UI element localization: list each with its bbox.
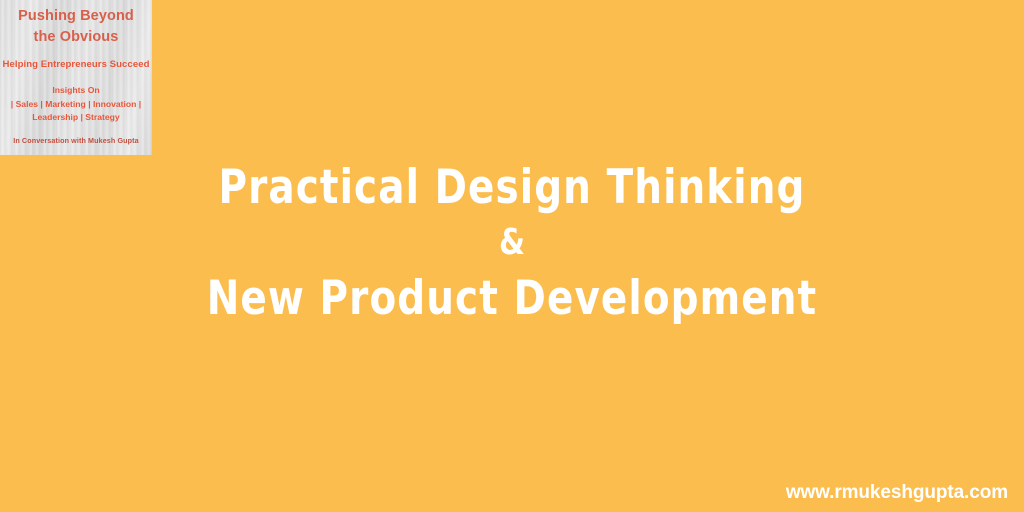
podcast-cover-title-line1: Pushing Beyond	[0, 6, 152, 27]
podcast-cover-thumbnail: Pushing Beyond the Obvious Helping Entre…	[0, 0, 152, 155]
headline-line-2: New Product Development	[41, 271, 983, 326]
headline-block: Practical Design Thinking & New Product …	[0, 160, 1024, 327]
headline-connector: &	[41, 215, 983, 271]
podcast-cover-topics: Insights On | Sales | Marketing | Innova…	[0, 84, 152, 125]
podcast-cover-insights-heading: Insights On	[0, 84, 152, 98]
podcast-cover-topics-line1: | Sales | Marketing | Innovation |	[0, 98, 152, 112]
promo-card: Pushing Beyond the Obvious Helping Entre…	[0, 0, 1024, 512]
podcast-cover-host-credit: In Conversation with Mukesh Gupta	[0, 136, 152, 145]
podcast-cover-topics-line2: Leadership | Strategy	[0, 111, 152, 125]
podcast-cover-title: Pushing Beyond the Obvious	[0, 6, 152, 48]
podcast-cover-content: Pushing Beyond the Obvious Helping Entre…	[0, 0, 152, 155]
site-url: www.rmukeshgupta.com	[786, 482, 1008, 504]
headline-line-1: Practical Design Thinking	[41, 160, 983, 215]
podcast-cover-title-line2: the Obvious	[0, 27, 152, 48]
podcast-cover-tagline: Helping Entrepreneurs Succeed	[0, 59, 152, 70]
